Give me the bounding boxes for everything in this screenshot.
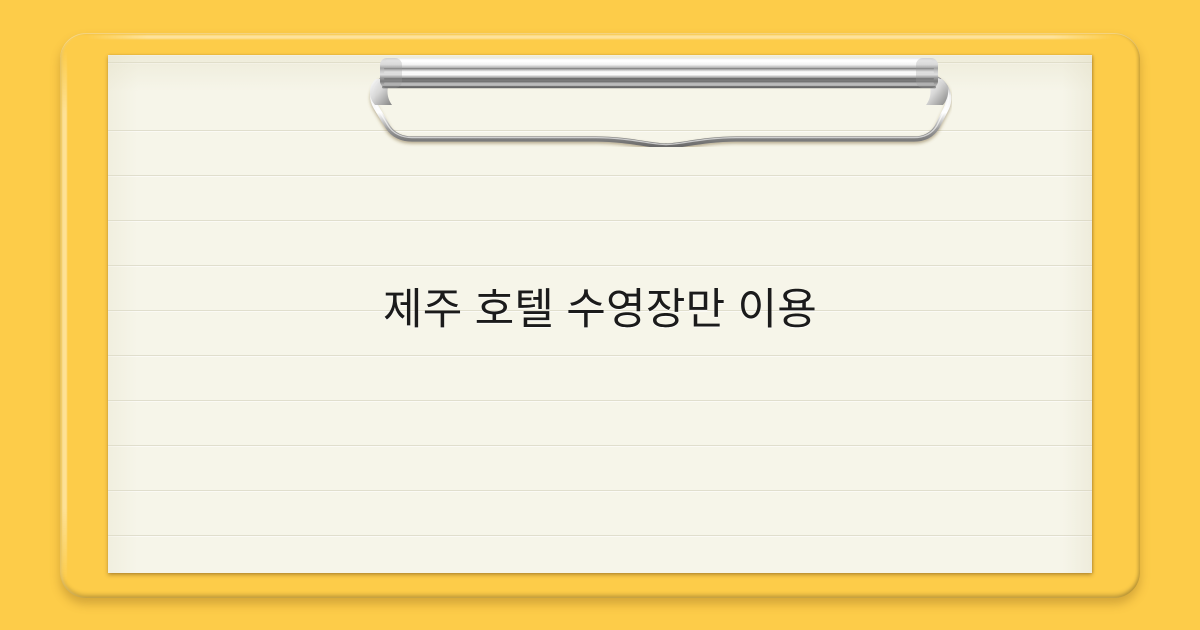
page-canvas: 제주 호텔 수영장만 이용 <box>0 0 1200 630</box>
board-top-highlight <box>86 35 1114 39</box>
clipboard-board: 제주 호텔 수영장만 이용 <box>60 33 1140 598</box>
board-left-highlight <box>62 49 67 583</box>
title-area: 제주 호텔 수영장만 이용 <box>108 55 1092 573</box>
paper-sheet: 제주 호텔 수영장만 이용 <box>108 55 1092 573</box>
page-title: 제주 호텔 수영장만 이용 <box>383 284 817 338</box>
